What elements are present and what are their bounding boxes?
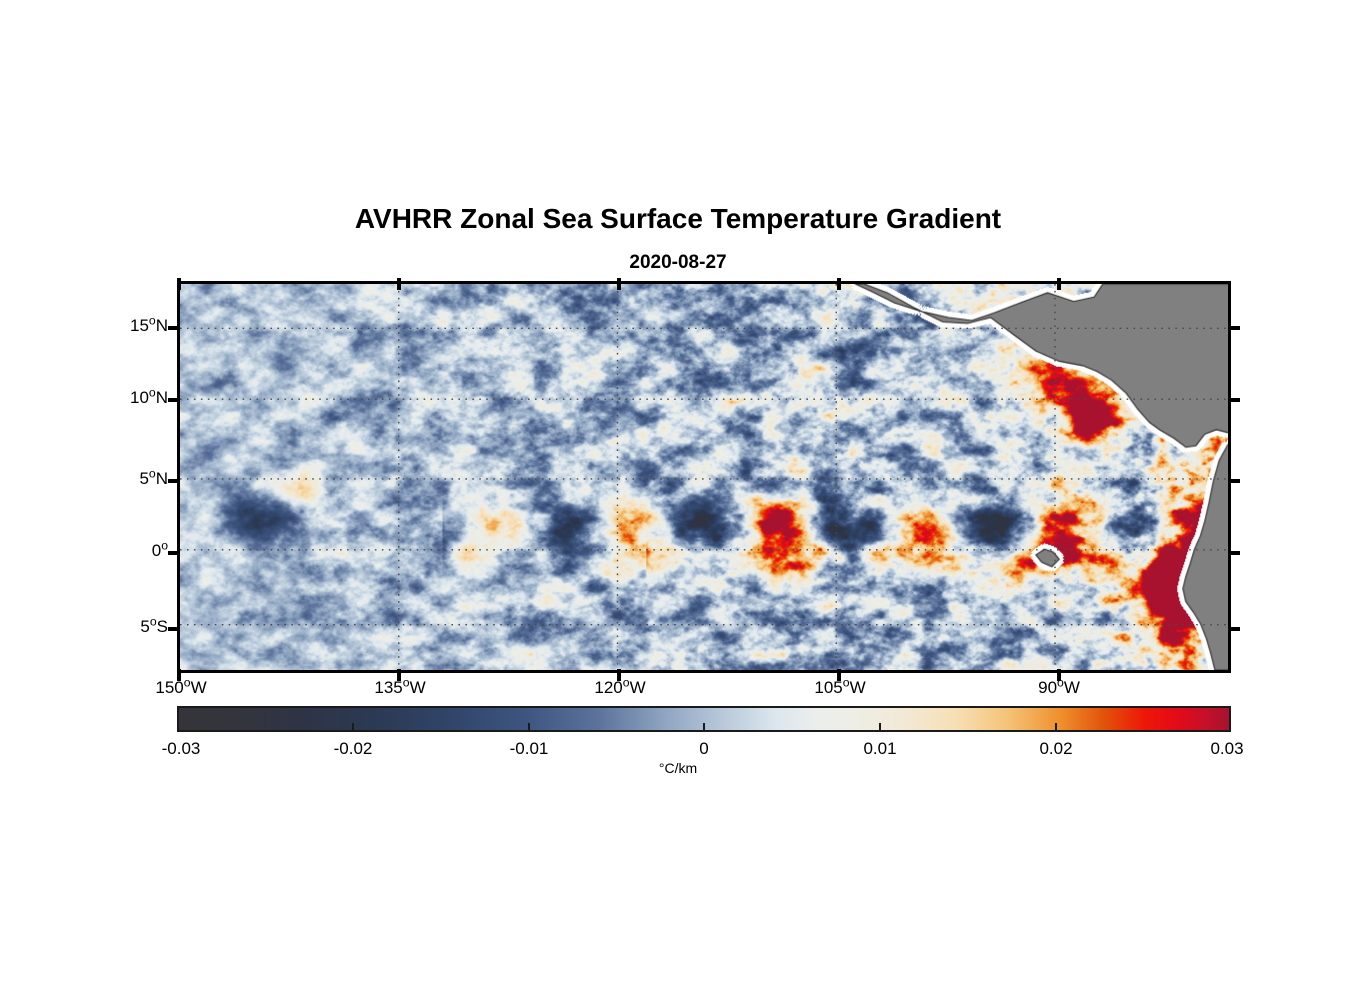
x-tick-label-135W: 135oW — [374, 678, 425, 698]
y-tick-0 — [168, 551, 180, 555]
x-tick-top-150W — [177, 278, 181, 290]
colorbar-tick-zero — [703, 723, 705, 732]
map-plot-area[interactable] — [177, 281, 1231, 673]
y-tick-5N — [168, 479, 180, 483]
colorbar-label-pos002: 0.02 — [1039, 739, 1072, 759]
page-subtitle: 2020-08-27 — [0, 252, 1356, 274]
y-tick-label-15N: 15oN — [130, 316, 168, 336]
y-tick-right-5S — [1228, 627, 1240, 631]
colorbar-label-pos003: 0.03 — [1210, 739, 1243, 759]
sst-gradient-heatmap — [180, 284, 1228, 670]
x-tick-top-120W — [617, 278, 621, 290]
x-tick-top-135W — [397, 278, 401, 290]
colorbar-tick-pos002 — [1055, 723, 1057, 732]
y-tick-5S — [168, 627, 180, 631]
colorbar-tick-pos001 — [879, 723, 881, 732]
x-tick-label-105W: 105oW — [814, 678, 865, 698]
colorbar-unit-label: °C/km — [0, 760, 1356, 776]
y-tick-right-0 — [1228, 551, 1240, 555]
y-tick-15N — [168, 326, 180, 330]
y-tick-right-15N — [1228, 326, 1240, 330]
y-tick-right-5N — [1228, 479, 1240, 483]
x-tick-label-90W: 90oW — [1038, 678, 1080, 698]
colorbar-label-zero: 0 — [699, 739, 708, 759]
y-tick-label-5S: 5oS — [140, 617, 168, 637]
colorbar-label-neg003: -0.03 — [162, 739, 201, 759]
x-tick-top-90W — [1057, 278, 1061, 290]
y-tick-10N — [168, 398, 180, 402]
page-title: AVHRR Zonal Sea Surface Temperature Grad… — [0, 203, 1356, 235]
colorbar-label-pos001: 0.01 — [863, 739, 896, 759]
colorbar-label-neg002: -0.02 — [334, 739, 373, 759]
y-tick-label-0: 0o — [152, 541, 168, 561]
x-tick-label-120W: 120oW — [594, 678, 645, 698]
x-tick-top-105W — [837, 278, 841, 290]
x-tick-label-150W: 150oW — [155, 678, 206, 698]
colorbar-label-neg001: -0.01 — [510, 739, 549, 759]
y-tick-label-5N: 5oN — [139, 469, 168, 489]
colorbar-tick-neg002 — [352, 723, 354, 732]
y-tick-right-10N — [1228, 398, 1240, 402]
colorbar-tick-neg001 — [528, 723, 530, 732]
y-tick-label-10N: 10oN — [130, 388, 168, 408]
